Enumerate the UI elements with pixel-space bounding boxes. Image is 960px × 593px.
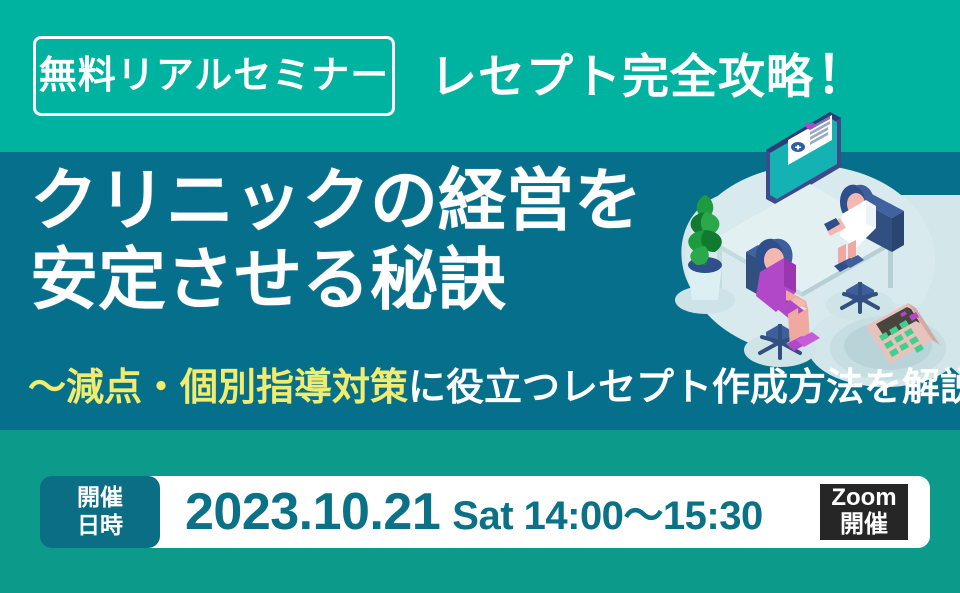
main-headline-line-1: クリニックの経営を	[30, 162, 642, 241]
main-headline-line-2: 安定させる秘訣	[30, 241, 642, 320]
event-date-value: 2023.10.21	[185, 482, 440, 542]
exclamation-mark: ！	[814, 47, 869, 105]
zoom-badge-line-2: 開催	[840, 512, 888, 538]
event-date-label-line-1: 開催	[77, 484, 123, 511]
zoom-badge-line-1: Zoom	[831, 485, 896, 511]
subtitle-rest: に役立つレセプト作成方法を解説～	[408, 367, 960, 409]
subtitle-highlight: 減点・個別指導対策	[66, 367, 408, 409]
seminar-type-tag: 無料リアルセミナー	[33, 36, 395, 116]
main-headline: クリニックの経営を 安定させる秘訣	[30, 162, 642, 320]
zoom-badge: Zoom 開催	[820, 484, 908, 540]
event-date-bar: 2023.10.21 Sat 14:00～15:30 Zoom 開催 開催 日時	[0, 430, 960, 593]
top-headline: レセプト完全攻略！	[430, 50, 869, 102]
isometric-office-illustration	[660, 100, 960, 400]
top-headline-text: レセプト完全攻略	[430, 50, 814, 103]
event-date-label-badge: 開催 日時	[40, 476, 160, 548]
event-date-text: 2023.10.21 Sat 14:00～15:30	[185, 482, 763, 542]
seminar-banner: 無料リアルセミナー レセプト完全攻略！ クリニックの経営を 安定させる秘訣 ～減…	[0, 0, 960, 593]
event-date-panel: 2023.10.21 Sat 14:00～15:30 Zoom 開催	[100, 476, 930, 548]
event-date-inner: 2023.10.21 Sat 14:00～15:30 Zoom 開催 開催 日時	[40, 476, 930, 548]
subtitle-prefix: ～	[28, 367, 66, 409]
subtitle: ～減点・個別指導対策に役立つレセプト作成方法を解説～	[28, 368, 943, 410]
event-time-value: Sat 14:00～15:30	[452, 483, 762, 541]
seminar-type-label: 無料リアルセミナー	[39, 57, 390, 95]
event-date-label-line-2: 日時	[77, 512, 123, 539]
